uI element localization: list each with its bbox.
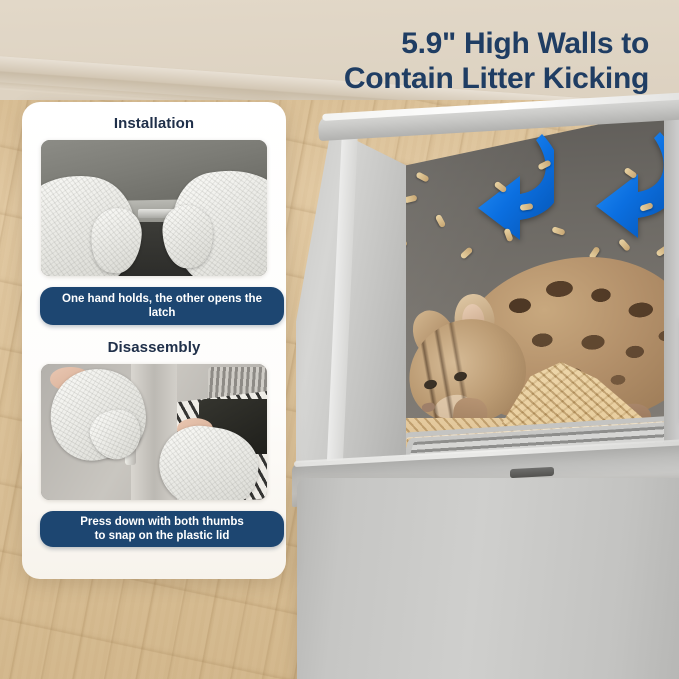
box-base xyxy=(297,478,679,679)
instruction-card: Installation One hand holds, the other o… xyxy=(22,102,286,579)
product-scene: 5.9" DEEP 5.9" High Walls to Contain Lit… xyxy=(0,0,679,679)
installation-caption-line-1: One hand holds, the other opens the latc… xyxy=(62,293,262,319)
litter-box: 5.9" DEEP xyxy=(288,100,679,679)
box-right-wall xyxy=(664,100,679,472)
headline-line-2: Contain Litter Kicking xyxy=(249,61,649,96)
page-title: 5.9" High Walls to Contain Litter Kickin… xyxy=(249,26,649,96)
section-title-disassembly: Disassembly xyxy=(40,339,268,356)
litter-return-arrow-right xyxy=(576,130,672,246)
installation-caption: One hand holds, the other opens the latc… xyxy=(40,287,284,325)
disassembly-caption: Press down with both thumbs to snap on t… xyxy=(40,511,284,547)
disassembly-photo xyxy=(41,364,267,500)
headline-line-1: 5.9" High Walls to xyxy=(401,27,649,60)
disassembly-caption-line-1: Press down with both thumbs xyxy=(80,516,244,528)
section-title-installation: Installation xyxy=(40,115,268,132)
installation-photo xyxy=(41,140,267,276)
disassembly-caption-line-2: to snap on the plastic lid xyxy=(95,530,230,542)
